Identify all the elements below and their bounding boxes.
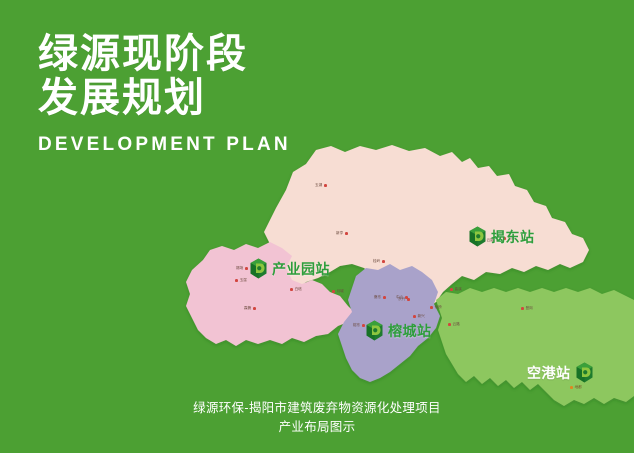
town-name: 白塔: [295, 287, 302, 292]
town-name: 玉湖: [315, 183, 322, 188]
town-name: 曲溪: [455, 287, 462, 292]
town-dot-icon: [521, 307, 524, 310]
town-dot-icon: [245, 267, 248, 270]
page-title-line2: 发展规划: [38, 76, 368, 120]
station-label: 揭东站: [491, 227, 535, 247]
town-name: 新兴: [418, 314, 425, 319]
station-label: 榕城站: [388, 321, 432, 341]
town-name: 地都: [575, 385, 582, 390]
town-name: 东兴: [398, 297, 405, 302]
town-dot-icon: [345, 232, 348, 235]
town-label: 霖磐: [244, 306, 256, 311]
town-name: 新亨: [336, 231, 343, 236]
caption-line1: 绿源环保-揭阳市建筑废弃物资源化处理项目: [0, 399, 634, 418]
town-name: 玉滘: [240, 278, 247, 283]
town-name: 登岗: [526, 306, 533, 311]
town-label: 玉湖: [315, 183, 327, 188]
page-title-line1: 绿源现阶段: [38, 32, 368, 76]
town-dot-icon: [450, 288, 453, 291]
town-dot-icon: [382, 260, 385, 263]
town-label: 仙桥: [430, 305, 442, 310]
lvyuan-logo-icon: [576, 362, 593, 383]
poster-canvas: 绿源现阶段 发展规划 DEVELOPMENT PLAN 玉湖新亨桂岭锡场玉滘白塔…: [0, 0, 634, 453]
town-name: 仙桥: [435, 305, 442, 310]
lvyuan-logo-icon: [469, 226, 486, 247]
town-label: 白塔: [290, 287, 302, 292]
town-name: 桂岭: [373, 259, 380, 264]
lvyuan-logo-icon: [366, 320, 383, 341]
town-name: 磐东: [374, 295, 381, 300]
page-subtitle: DEVELOPMENT PLAN: [38, 134, 368, 156]
title-block: 绿源现阶段 发展规划 DEVELOPMENT PLAN: [38, 32, 368, 156]
town-label: 玉滘: [235, 278, 247, 283]
station-label: 产业园站: [272, 259, 330, 279]
station-marker-chanyeyuan[interactable]: 产业园站: [250, 258, 330, 279]
town-label: 锡场: [236, 266, 248, 271]
town-label: 东兴: [398, 297, 410, 302]
town-dot-icon: [253, 307, 256, 310]
town-name: 月城: [337, 289, 344, 294]
town-label: 登岗: [521, 306, 533, 311]
station-marker-konggang[interactable]: 空港站: [527, 362, 593, 383]
town-dot-icon: [448, 323, 451, 326]
town-name: 锡场: [236, 266, 243, 271]
town-label: 曲溪: [450, 287, 462, 292]
town-name: 榕东: [353, 323, 360, 328]
town-name: 霖磐: [244, 306, 251, 311]
town-label: 地都: [570, 385, 582, 390]
town-dot-icon: [324, 184, 327, 187]
town-dot-icon: [290, 288, 293, 291]
town-dot-icon: [570, 386, 573, 389]
town-label: 桂岭: [373, 259, 385, 264]
town-dot-icon: [362, 324, 365, 327]
town-label: 磐东: [374, 295, 386, 300]
town-dot-icon: [383, 296, 386, 299]
town-dot-icon: [430, 306, 433, 309]
town-dot-icon: [235, 279, 238, 282]
station-label: 空港站: [527, 363, 571, 383]
town-label: 月城: [332, 289, 344, 294]
town-dot-icon: [332, 290, 335, 293]
town-label: 榕东: [353, 323, 365, 328]
station-marker-jiedong[interactable]: 揭东站: [469, 226, 535, 247]
town-dot-icon: [407, 298, 410, 301]
caption-line2: 产业布局图示: [0, 418, 634, 437]
map-caption: 绿源环保-揭阳市建筑废弃物资源化处理项目 产业布局图示: [0, 399, 634, 437]
town-label: 云路: [448, 322, 460, 327]
town-label: 新兴: [413, 314, 425, 319]
town-name: 云路: [453, 322, 460, 327]
map-region-east: [436, 288, 634, 406]
lvyuan-logo-icon: [250, 258, 267, 279]
town-dot-icon: [413, 315, 416, 318]
town-label: 新亨: [336, 231, 348, 236]
station-marker-rongcheng[interactable]: 榕城站: [366, 320, 432, 341]
